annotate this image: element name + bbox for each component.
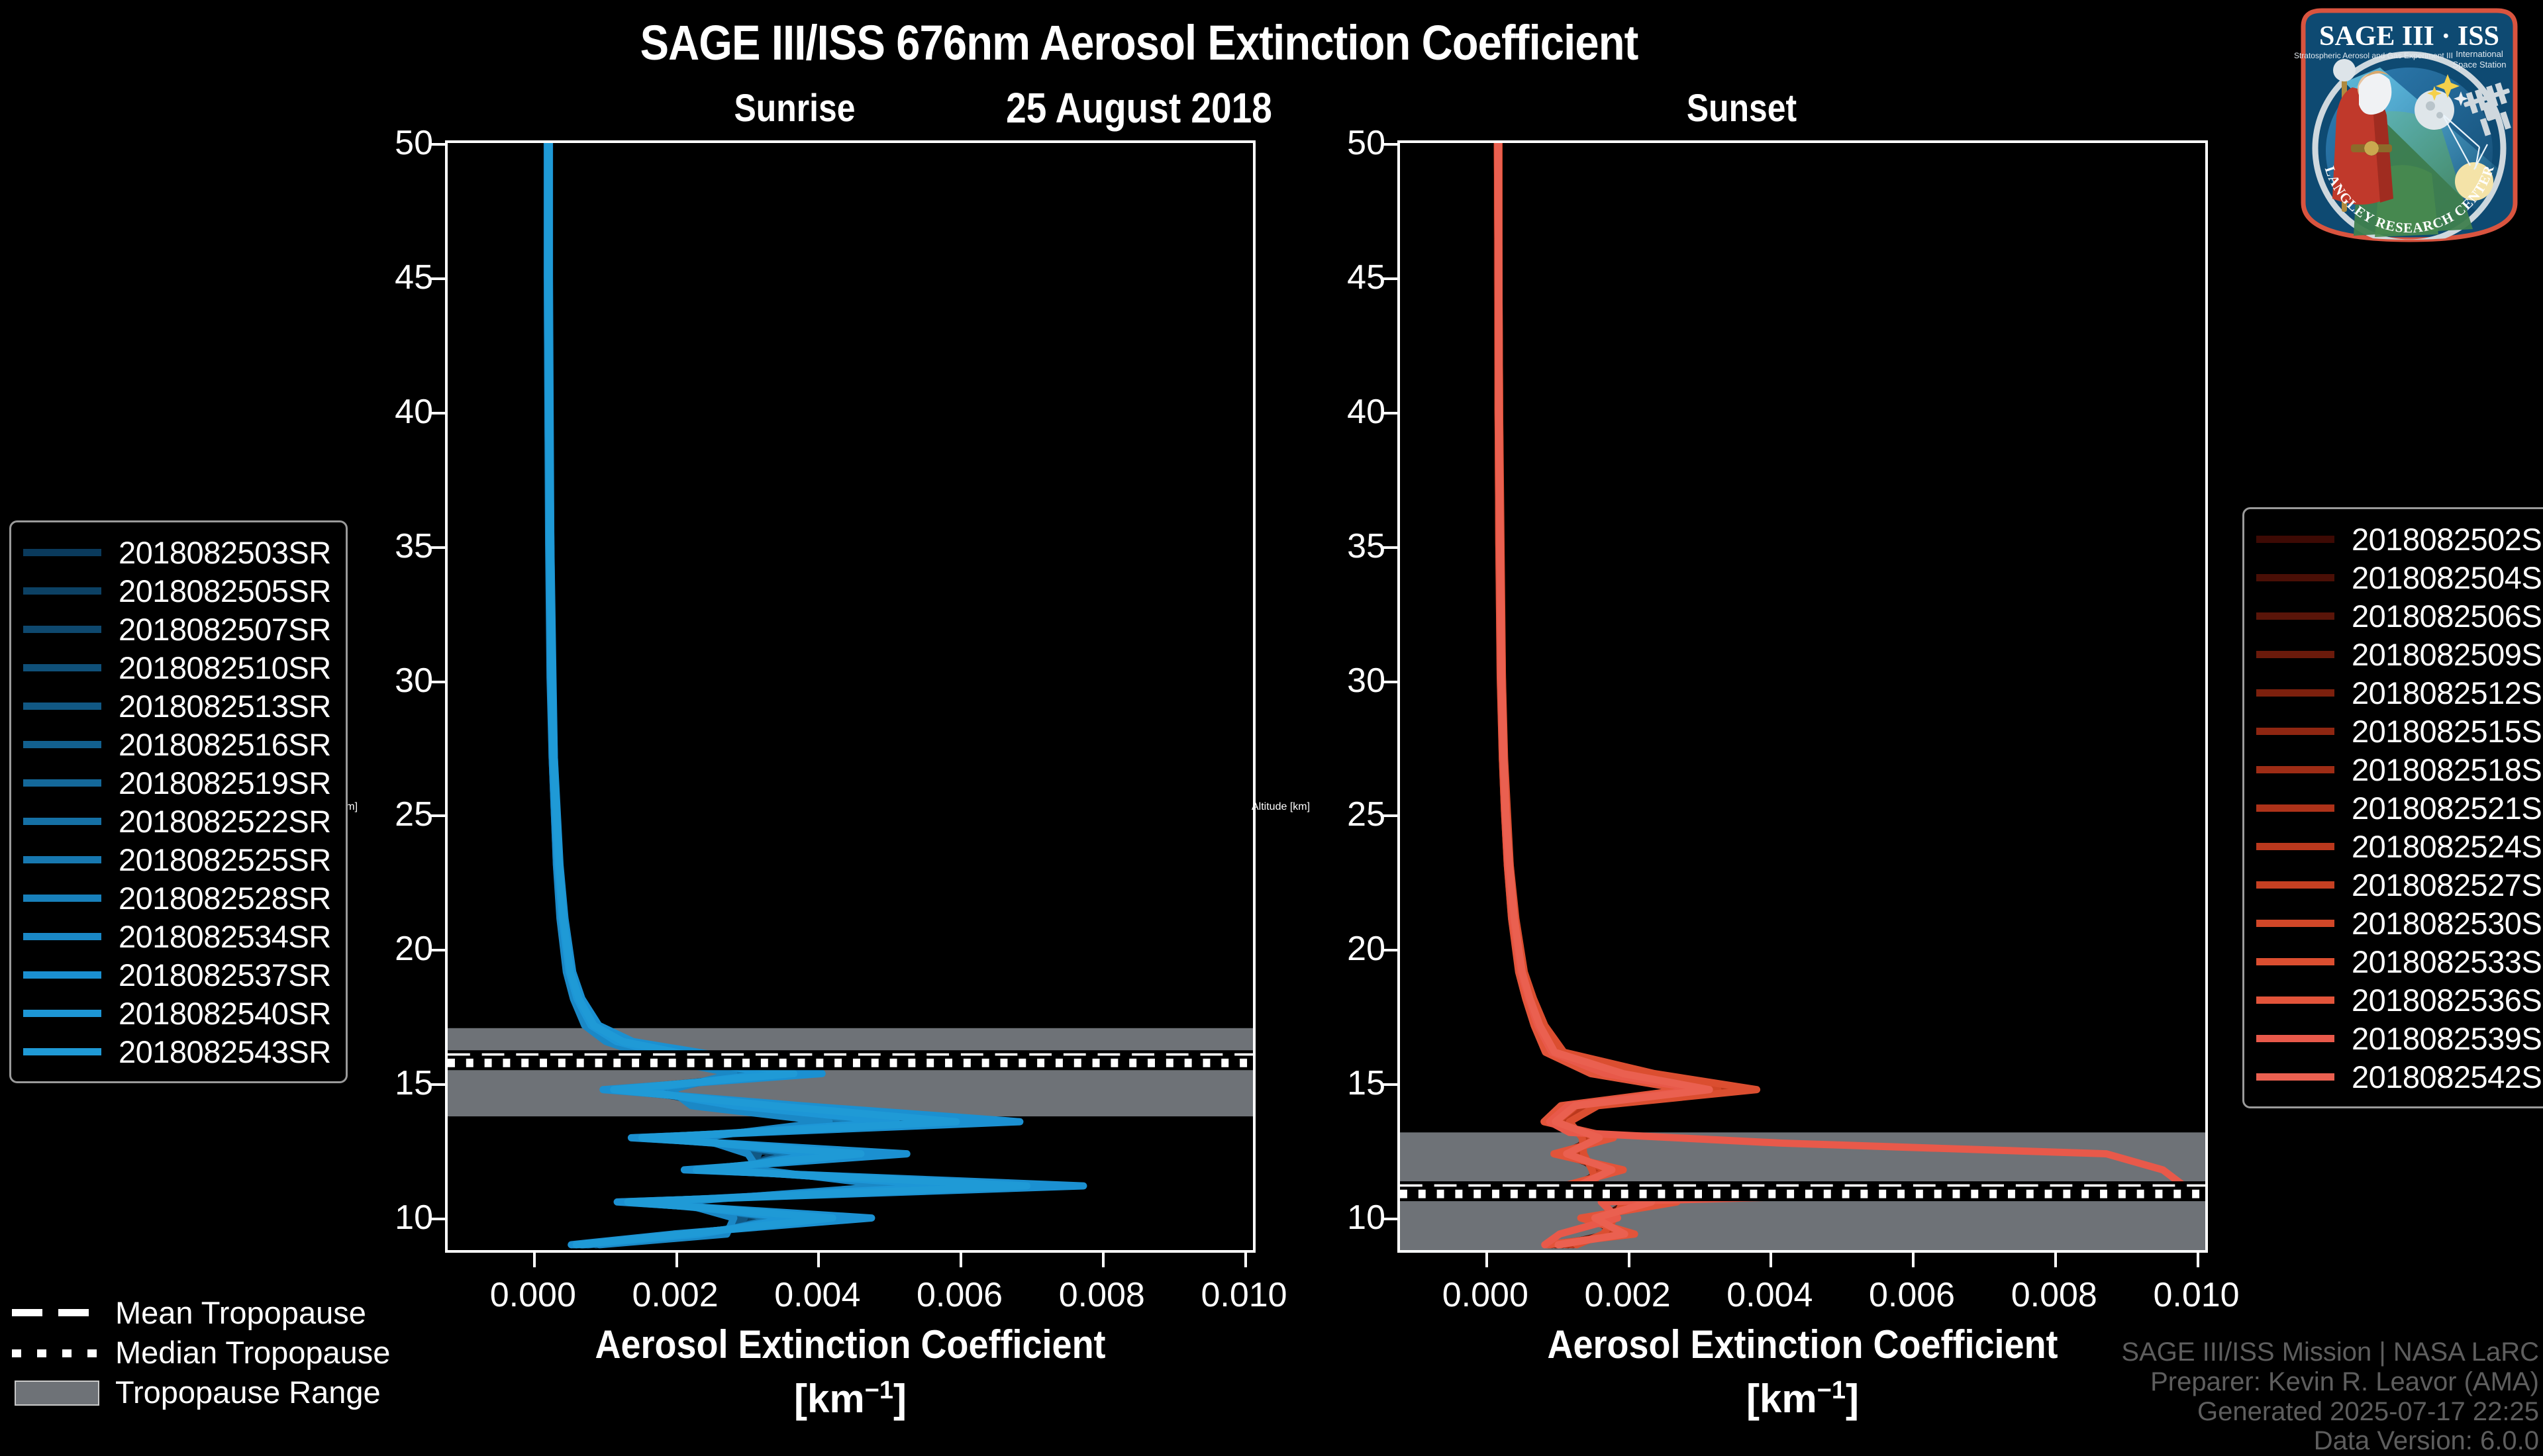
legend-item-label: 2018082542SS: [2352, 1059, 2543, 1095]
dashed-line-icon: [12, 1301, 99, 1324]
sunset-profile-chart: [1400, 143, 2205, 1250]
y-axis-title-right: Altitude [km]: [1252, 801, 1310, 813]
x-tick-label: 0.008: [1059, 1275, 1145, 1315]
y-tick-label: 35: [395, 526, 433, 566]
x-tick-label: 0.006: [1869, 1275, 1955, 1315]
legend-color-swatch: [23, 626, 101, 633]
legend-item-label: 2018082506SS: [2352, 598, 2543, 634]
x-tick: [533, 1250, 536, 1267]
legend-item-label: 2018082504SS: [2352, 559, 2543, 596]
legend-item[interactable]: 2018082502SS: [2256, 520, 2543, 558]
x-tick: [675, 1250, 678, 1267]
legend-color-swatch: [2256, 728, 2334, 735]
legend-item-label: 2018082530SS: [2352, 905, 2543, 942]
legend-color-swatch: [2256, 1073, 2334, 1081]
legend-color-swatch: [23, 664, 101, 671]
y-tick-label: 15: [1347, 1063, 1385, 1103]
sage-iii-iss-logo: SAGE III · ISS Stratospheric Aerosol and…: [2281, 4, 2538, 246]
y-tick-label: 25: [395, 795, 433, 834]
sunrise-legend[interactable]: 2018082503SR2018082505SR2018082507SR2018…: [9, 520, 348, 1083]
legend-item[interactable]: 2018082522SR: [23, 802, 331, 840]
x-tick: [1102, 1250, 1105, 1267]
x-tick-label: 0.010: [1201, 1275, 1287, 1315]
legend-item-label: 2018082502SS: [2352, 521, 2543, 558]
legend-item[interactable]: 2018082539SS: [2256, 1019, 2543, 1057]
legend-color-swatch: [2256, 766, 2334, 773]
legend-color-swatch: [23, 933, 101, 940]
legend-item[interactable]: 2018082524SS: [2256, 827, 2543, 865]
legend-color-swatch: [23, 587, 101, 595]
x-tick: [817, 1250, 820, 1267]
legend-item-label: 2018082528SR: [119, 880, 331, 916]
y-tick-label: 10: [1347, 1198, 1385, 1238]
y-tick-label: 45: [1347, 258, 1385, 297]
legend-color-swatch: [2256, 536, 2334, 543]
y-tick-label: 40: [395, 392, 433, 432]
credit-mission: SAGE III/ISS Mission | NASA LaRC: [2121, 1337, 2539, 1367]
x-tick-label: 0.006: [917, 1275, 1003, 1315]
tropopause-mean-label: Mean Tropopause: [115, 1294, 366, 1331]
legend-item[interactable]: 2018082515SS: [2256, 712, 2543, 750]
x-axis-units: [km−1]: [448, 1376, 1253, 1422]
legend-color-swatch: [2256, 612, 2334, 620]
legend-color-swatch: [2256, 996, 2334, 1004]
legend-item[interactable]: 2018082521SS: [2256, 789, 2543, 827]
x-tick: [2197, 1250, 2199, 1267]
legend-item[interactable]: 2018082530SS: [2256, 904, 2543, 942]
x-tick-label: 0.010: [2153, 1275, 2239, 1315]
legend-item-label: 2018082543SR: [119, 1034, 331, 1070]
legend-color-swatch: [23, 971, 101, 979]
legend-item[interactable]: 2018082540SR: [23, 994, 331, 1032]
legend-color-swatch: [23, 818, 101, 825]
tropopause-legend[interactable]: Mean Tropopause Median Tropopause Tropop…: [12, 1292, 390, 1412]
legend-color-swatch: [2256, 881, 2334, 889]
logo-subtitle-right-1: International: [2456, 49, 2503, 59]
sunset-legend[interactable]: 2018082502SS2018082504SS2018082506SS2018…: [2242, 507, 2543, 1108]
profile-line-2018082539SS: [1498, 143, 2184, 1245]
x-axis-title: Aerosol Extinction Coefficient: [1440, 1322, 2165, 1367]
legend-item[interactable]: 2018082542SS: [2256, 1057, 2543, 1096]
legend-color-swatch: [2256, 1035, 2334, 1042]
x-tick-label: 0.002: [1585, 1275, 1671, 1315]
legend-item-label: 2018082507SR: [119, 611, 331, 648]
legend-item[interactable]: 2018082513SR: [23, 687, 331, 725]
y-tick-label: 20: [1347, 929, 1385, 969]
legend-color-swatch: [23, 856, 101, 863]
logo-title: SAGE III · ISS: [2319, 21, 2499, 52]
legend-item[interactable]: 2018082528SR: [23, 879, 331, 917]
tropopause-median-label: Median Tropopause: [115, 1334, 390, 1371]
x-tick-label: 0.004: [774, 1275, 860, 1315]
tropopause-range-row: Tropopause Range: [12, 1372, 390, 1412]
legend-item-label: 2018082518SS: [2352, 752, 2543, 788]
legend-color-swatch: [2256, 958, 2334, 965]
legend-color-swatch: [23, 549, 101, 556]
x-tick-label: 0.002: [632, 1275, 719, 1315]
legend-color-swatch: [2256, 843, 2334, 850]
legend-item[interactable]: 2018082533SS: [2256, 942, 2543, 981]
tropopause-range-band: [448, 1028, 1253, 1116]
y-tick-label: 15: [395, 1063, 433, 1103]
tropopause-range-label: Tropopause Range: [115, 1374, 381, 1410]
sunrise-profile-chart: [448, 143, 1253, 1250]
y-tick-label: 25: [1347, 795, 1385, 834]
legend-item[interactable]: 2018082519SR: [23, 763, 331, 802]
legend-item-label: 2018082540SR: [119, 995, 331, 1032]
legend-item[interactable]: 2018082510SR: [23, 648, 331, 687]
legend-color-swatch: [23, 895, 101, 902]
x-tick-label: 0.000: [490, 1275, 576, 1315]
legend-item-label: 2018082509SS: [2352, 636, 2543, 673]
logo-subtitle-right-2: Space Station: [2453, 60, 2507, 70]
x-tick: [2054, 1250, 2057, 1267]
legend-item[interactable]: 2018082506SS: [2256, 597, 2543, 635]
legend-item[interactable]: 2018082516SR: [23, 725, 331, 763]
y-tick-label: 45: [395, 258, 433, 297]
x-axis-units: [km−1]: [1400, 1376, 2205, 1422]
legend-item[interactable]: 2018082537SR: [23, 955, 331, 994]
legend-item-label: 2018082522SR: [119, 803, 331, 840]
x-tick: [1244, 1250, 1247, 1267]
x-axis-title: Aerosol Extinction Coefficient: [488, 1322, 1213, 1367]
legend-item-label: 2018082536SS: [2352, 982, 2543, 1018]
legend-item-label: 2018082503SR: [119, 534, 331, 571]
legend-item-label: 2018082537SR: [119, 957, 331, 993]
legend-color-swatch: [2256, 920, 2334, 927]
legend-item[interactable]: 2018082512SS: [2256, 673, 2543, 712]
y-tick-label: 40: [1347, 392, 1385, 432]
x-tick-label: 0.000: [1442, 1275, 1528, 1315]
legend-item[interactable]: 2018082543SR: [23, 1032, 331, 1071]
legend-item-label: 2018082521SS: [2352, 790, 2543, 826]
legend-item[interactable]: 2018082503SR: [23, 533, 331, 571]
legend-item-label: 2018082512SS: [2352, 675, 2543, 711]
legend-item-label: 2018082533SS: [2352, 944, 2543, 980]
legend-color-swatch: [23, 779, 101, 787]
legend-item-label: 2018082524SS: [2352, 828, 2543, 865]
legend-item-label: 2018082539SS: [2352, 1020, 2543, 1057]
legend-color-swatch: [2256, 574, 2334, 581]
legend-item-label: 2018082513SR: [119, 688, 331, 724]
legend-item[interactable]: 2018082504SS: [2256, 558, 2543, 597]
legend-item[interactable]: 2018082525SR: [23, 840, 331, 879]
legend-color-swatch: [2256, 651, 2334, 658]
legend-item[interactable]: 2018082518SS: [2256, 750, 2543, 789]
legend-item-label: 2018082534SR: [119, 918, 331, 955]
page-title: SAGE III/ISS 676nm Aerosol Extinction Co…: [136, 15, 2141, 71]
logo-subtitle-left: Stratospheric Aerosol and Gas Experiment…: [2294, 51, 2453, 60]
legend-item[interactable]: 2018082536SS: [2256, 981, 2543, 1019]
legend-item[interactable]: 2018082507SR: [23, 610, 331, 648]
y-tick-label: 35: [1347, 526, 1385, 566]
filled-band-icon: [12, 1381, 99, 1403]
sunset-plot-area: 1015202530354045500.0000.0020.0040.0060.…: [1397, 140, 2208, 1253]
y-tick-label: 50: [395, 123, 433, 163]
credit-generated: Generated 2025-07-17 22:25: [2121, 1397, 2539, 1427]
y-tick-label: 30: [1347, 661, 1385, 701]
y-tick-label: 10: [395, 1198, 433, 1238]
x-tick: [1912, 1250, 1915, 1267]
legend-item[interactable]: 2018082527SS: [2256, 865, 2543, 904]
legend-color-swatch: [2256, 804, 2334, 812]
legend-item-label: 2018082516SR: [119, 726, 331, 763]
x-tick-label: 0.004: [1726, 1275, 1813, 1315]
x-tick-label: 0.008: [2011, 1275, 2097, 1315]
legend-item[interactable]: 2018082505SR: [23, 571, 331, 610]
legend-item[interactable]: 2018082509SS: [2256, 635, 2543, 673]
tropopause-mean-row: Mean Tropopause: [12, 1292, 390, 1332]
dotted-line-icon: [12, 1341, 99, 1363]
legend-color-swatch: [23, 1048, 101, 1055]
legend-color-swatch: [23, 1010, 101, 1017]
legend-item[interactable]: 2018082534SR: [23, 917, 331, 955]
y-tick-label: 50: [1347, 123, 1385, 163]
credit-preparer: Preparer: Kevin R. Leavor (AMA): [2121, 1367, 2539, 1397]
x-tick: [1485, 1250, 1488, 1267]
sunrise-panel-label: Sunrise: [635, 86, 954, 130]
x-tick: [1770, 1250, 1772, 1267]
y-tick-label: 30: [395, 661, 433, 701]
legend-item-label: 2018082525SR: [119, 842, 331, 878]
legend-item-label: 2018082510SR: [119, 650, 331, 686]
legend-item-label: 2018082527SS: [2352, 867, 2543, 903]
tropopause-median-row: Median Tropopause: [12, 1332, 390, 1372]
legend-item-label: 2018082519SR: [119, 765, 331, 801]
legend-color-swatch: [23, 703, 101, 710]
credits-block: SAGE III/ISS Mission | NASA LaRC Prepare…: [2121, 1337, 2539, 1456]
x-tick: [960, 1250, 962, 1267]
legend-item-label: 2018082505SR: [119, 573, 331, 609]
legend-item-label: 2018082515SS: [2352, 713, 2543, 750]
legend-color-swatch: [2256, 689, 2334, 697]
x-tick: [1628, 1250, 1630, 1267]
sunrise-plot-area: 1015202530354045500.0000.0020.0040.0060.…: [445, 140, 1256, 1253]
legend-color-swatch: [23, 741, 101, 748]
credit-data-version: Data Version: 6.0.0: [2121, 1426, 2539, 1456]
sunset-panel-label: Sunset: [1582, 86, 1901, 130]
y-tick-label: 20: [395, 929, 433, 969]
